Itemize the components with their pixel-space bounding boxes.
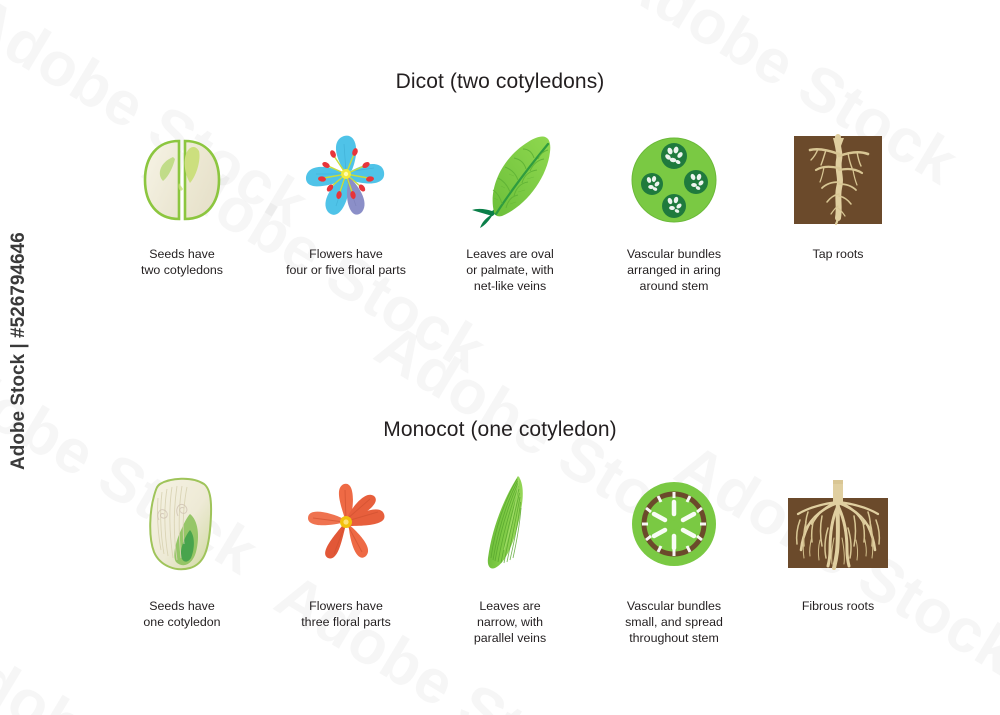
tap-root-caption: Tap roots bbox=[813, 246, 864, 262]
dicot-stem-item: Vascular bundles arranged in aring aroun… bbox=[592, 128, 756, 295]
dicot-section-title: Dicot (two cotyledons) bbox=[0, 70, 1000, 94]
dicot-flower-caption: Flowers have four or five floral parts bbox=[286, 246, 406, 278]
monocot-item-row: Seeds have one cotyledon bbox=[100, 472, 920, 647]
monocot-seed-icon bbox=[107, 472, 257, 576]
monocot-seed-item: Seeds have one cotyledon bbox=[100, 472, 264, 630]
dicot-leaf-item: Leaves are oval or palmate, with net-lik… bbox=[428, 128, 592, 295]
fibrous-root-caption: Fibrous roots bbox=[802, 598, 874, 614]
dicot-stem-caption: Vascular bundles arranged in aring aroun… bbox=[627, 246, 721, 295]
dicot-seed-item: Seeds have two cotyledons bbox=[100, 128, 264, 278]
monocot-section-title: Monocot (one cotyledon) bbox=[0, 418, 1000, 442]
monocot-leaf-icon bbox=[435, 472, 585, 576]
monocot-leaf-item: Leaves are narrow, with parallel veins bbox=[428, 472, 592, 647]
dicot-leaf-icon bbox=[435, 128, 585, 232]
diagram-canvas: Adobe Stock Adobe Stock Adobe Stock Adob… bbox=[0, 0, 1000, 715]
monocot-seed-caption: Seeds have one cotyledon bbox=[143, 598, 220, 630]
dicot-seed-caption: Seeds have two cotyledons bbox=[141, 246, 223, 278]
monocot-leaf-caption: Leaves are narrow, with parallel veins bbox=[474, 598, 546, 647]
monocot-stem-item: Vascular bundles small, and spread throu… bbox=[592, 472, 756, 647]
dicot-flower-icon bbox=[271, 128, 421, 232]
monocot-flower-caption: Flowers have three floral parts bbox=[301, 598, 391, 630]
dicot-seed-icon bbox=[107, 128, 257, 232]
dicot-flower-item: Flowers have four or five floral parts bbox=[264, 128, 428, 278]
dicot-leaf-caption: Leaves are oval or palmate, with net-lik… bbox=[466, 246, 553, 295]
monocot-flower-icon bbox=[271, 472, 421, 576]
dicot-stem-cross-section-icon bbox=[599, 128, 749, 232]
monocot-stem-caption: Vascular bundles small, and spread throu… bbox=[625, 598, 723, 647]
watermark-id-label: Adobe Stock | #526794646 bbox=[8, 232, 30, 470]
monocot-stem-cross-section-icon bbox=[599, 472, 749, 576]
tap-root-item: Tap roots bbox=[756, 128, 920, 262]
dicot-item-row: Seeds have two cotyledons bbox=[100, 128, 920, 295]
tap-root-icon bbox=[763, 128, 913, 232]
fibrous-root-icon bbox=[763, 472, 913, 576]
fibrous-root-item: Fibrous roots bbox=[756, 472, 920, 614]
monocot-flower-item: Flowers have three floral parts bbox=[264, 472, 428, 630]
